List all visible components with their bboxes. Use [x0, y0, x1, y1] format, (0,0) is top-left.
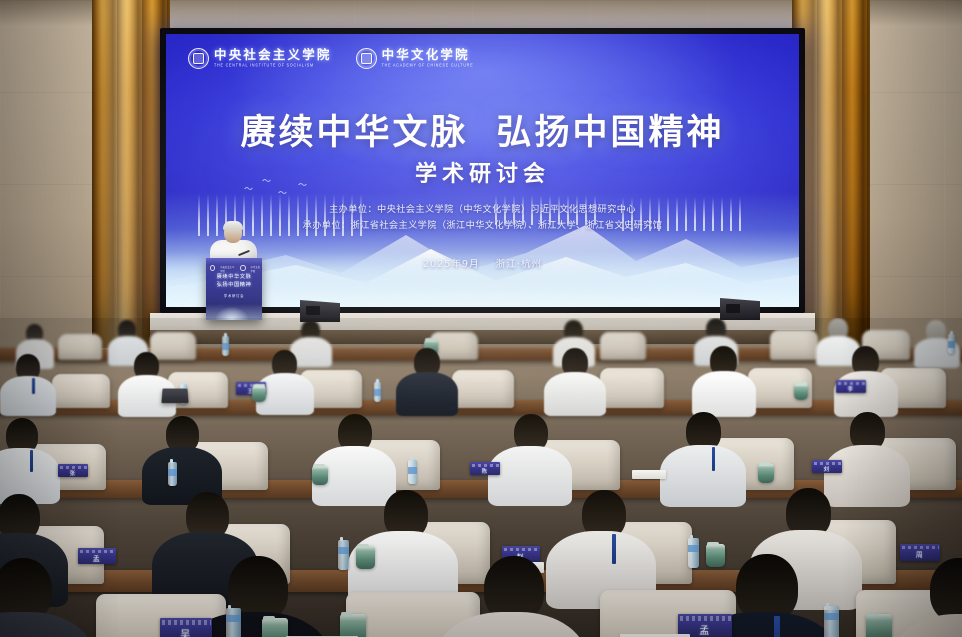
- chair: [600, 368, 664, 408]
- tea-cup: [866, 614, 892, 637]
- water-bottle: [948, 334, 955, 354]
- academy-seal-icon: [356, 48, 377, 69]
- document-paper: [632, 470, 666, 479]
- person-torso: [396, 372, 458, 416]
- placard-header-strip: [162, 620, 211, 625]
- logo-cn-name: 中华文化学院: [382, 49, 474, 62]
- podium-logo-label: 中央社会主义学院: [220, 265, 235, 273]
- lanyard: [712, 447, 715, 471]
- logo-central-institute: 中央社会主义学院 THE CENTRAL INSTITUTE OF SOCIAL…: [188, 48, 332, 69]
- tea-cup: [794, 384, 808, 400]
- person-torso: [834, 371, 898, 417]
- event-location: 浙江·杭州: [496, 259, 542, 270]
- placard-name: 吴: [160, 626, 212, 637]
- audience-area: 王 李: [0, 318, 962, 637]
- chair: [58, 334, 102, 360]
- person-torso: [692, 371, 756, 417]
- placard-name: 张: [58, 469, 88, 477]
- chair: [770, 330, 818, 360]
- institute-seal-icon: [188, 48, 209, 69]
- placard-name: 周: [900, 550, 940, 560]
- institute-seal-icon: [210, 265, 215, 271]
- placard-name: 刘: [812, 465, 842, 473]
- podium-banner-title: 赓续中华文脉 弘扬中国精神: [206, 273, 262, 290]
- screen-headline: 赓续中华文脉弘扬中国精神: [166, 104, 799, 155]
- water-bottle: [688, 538, 699, 568]
- laptop: [161, 389, 188, 404]
- logo-en-name: THE ACADEMY OF CHINESE CULTURE: [382, 64, 474, 68]
- tea-cup: [312, 466, 328, 485]
- name-placard: 孟: [78, 548, 116, 564]
- tea-cup: [262, 618, 288, 637]
- logo-academy-chinese-culture: 中华文化学院 THE ACADEMY OF CHINESE CULTURE: [356, 48, 474, 69]
- logo-cn-name: 中央社会主义学院: [214, 49, 332, 62]
- lanyard: [30, 450, 33, 472]
- water-bottle: [824, 606, 839, 637]
- screen-logo-row: 中央社会主义学院 THE CENTRAL INSTITUTE OF SOCIAL…: [188, 48, 473, 69]
- water-bottle: [222, 336, 229, 356]
- placard-header-strip: [902, 546, 939, 549]
- screen-subtitle: 学术研讨会: [166, 156, 799, 188]
- organizer-line-host: 主办单位：中央社会主义学院（中华文化学院）习近平文化思想研究中心: [166, 202, 799, 218]
- logo-en-name: THE CENTRAL INSTITUTE OF SOCIALISM: [214, 64, 332, 68]
- tea-cup: [252, 386, 266, 402]
- person-torso: [0, 612, 96, 637]
- name-placard: 陈: [470, 462, 500, 475]
- placard-name: 李: [836, 385, 866, 393]
- person-torso: [824, 445, 910, 507]
- headline-part-right: 弘扬中国精神: [497, 112, 725, 153]
- placard-name: 陈: [470, 467, 500, 475]
- name-placard: 张: [58, 464, 88, 477]
- lanyard: [612, 534, 616, 564]
- podium-banner-subtitle: 学术研讨会: [206, 293, 262, 298]
- chair: [452, 370, 514, 408]
- water-bottle: [226, 608, 241, 637]
- placard-name: 孟: [78, 554, 116, 564]
- podium-banner-line1: 赓续中华文脉: [206, 273, 262, 281]
- name-placard: 吴: [160, 618, 212, 637]
- podium: 中央社会主义学院 中华文化学院 赓续中华文脉 弘扬中国精神 学术研讨会: [206, 258, 262, 320]
- water-bottle: [408, 460, 417, 484]
- podium-top-edge: [206, 258, 262, 264]
- person-head: [930, 558, 962, 622]
- placard-header-strip: [680, 616, 731, 621]
- headline-part-left: 赓续中华文脉: [240, 112, 468, 153]
- chair: [52, 374, 110, 408]
- name-placard: 刘: [812, 460, 842, 473]
- speaker-at-podium: 中央社会主义学院 中华文化学院 赓续中华文脉 弘扬中国精神 学术研讨会: [196, 222, 274, 318]
- event-date: 2025年9月: [423, 259, 480, 270]
- placard-header-strip: [80, 550, 115, 553]
- water-bottle: [168, 462, 177, 486]
- person-torso: [544, 372, 606, 416]
- placard-header-strip: [504, 548, 539, 551]
- water-bottle: [338, 540, 349, 570]
- podium-logo-row: 中央社会主义学院 中华文化学院: [210, 265, 262, 273]
- person-torso: [488, 446, 572, 506]
- logo-text-block: 中华文化学院 THE ACADEMY OF CHINESE CULTURE: [382, 49, 474, 68]
- chair: [150, 332, 196, 360]
- person-torso: [660, 445, 746, 507]
- speaker-hair: [223, 221, 243, 230]
- logo-text-block: 中央社会主义学院 THE CENTRAL INSTITUTE OF SOCIAL…: [214, 49, 332, 68]
- name-placard: 周: [900, 544, 940, 561]
- lanyard: [32, 378, 35, 394]
- podium-banner-line2: 弘扬中国精神: [206, 281, 262, 289]
- chair: [600, 332, 646, 360]
- academy-seal-icon: [240, 265, 245, 271]
- tea-cup: [758, 464, 774, 483]
- water-bottle: [374, 382, 381, 402]
- conference-hall-photo: 〜 〜 〜 〜 中央社会主义学院 THE CENTRAL INSTITUTE O…: [0, 0, 962, 637]
- gold-curtain-left: [92, 0, 170, 348]
- tea-cup: [340, 614, 366, 637]
- name-placard: 李: [836, 380, 866, 393]
- podium-logo-label: 中华文化学院: [251, 265, 262, 273]
- curtain-sheen-left: [92, 0, 170, 348]
- person-torso: [0, 376, 56, 416]
- lanyard: [774, 616, 780, 637]
- tea-cup: [706, 544, 725, 567]
- stage-monitor-speaker: [720, 298, 760, 320]
- tea-cup: [356, 546, 375, 569]
